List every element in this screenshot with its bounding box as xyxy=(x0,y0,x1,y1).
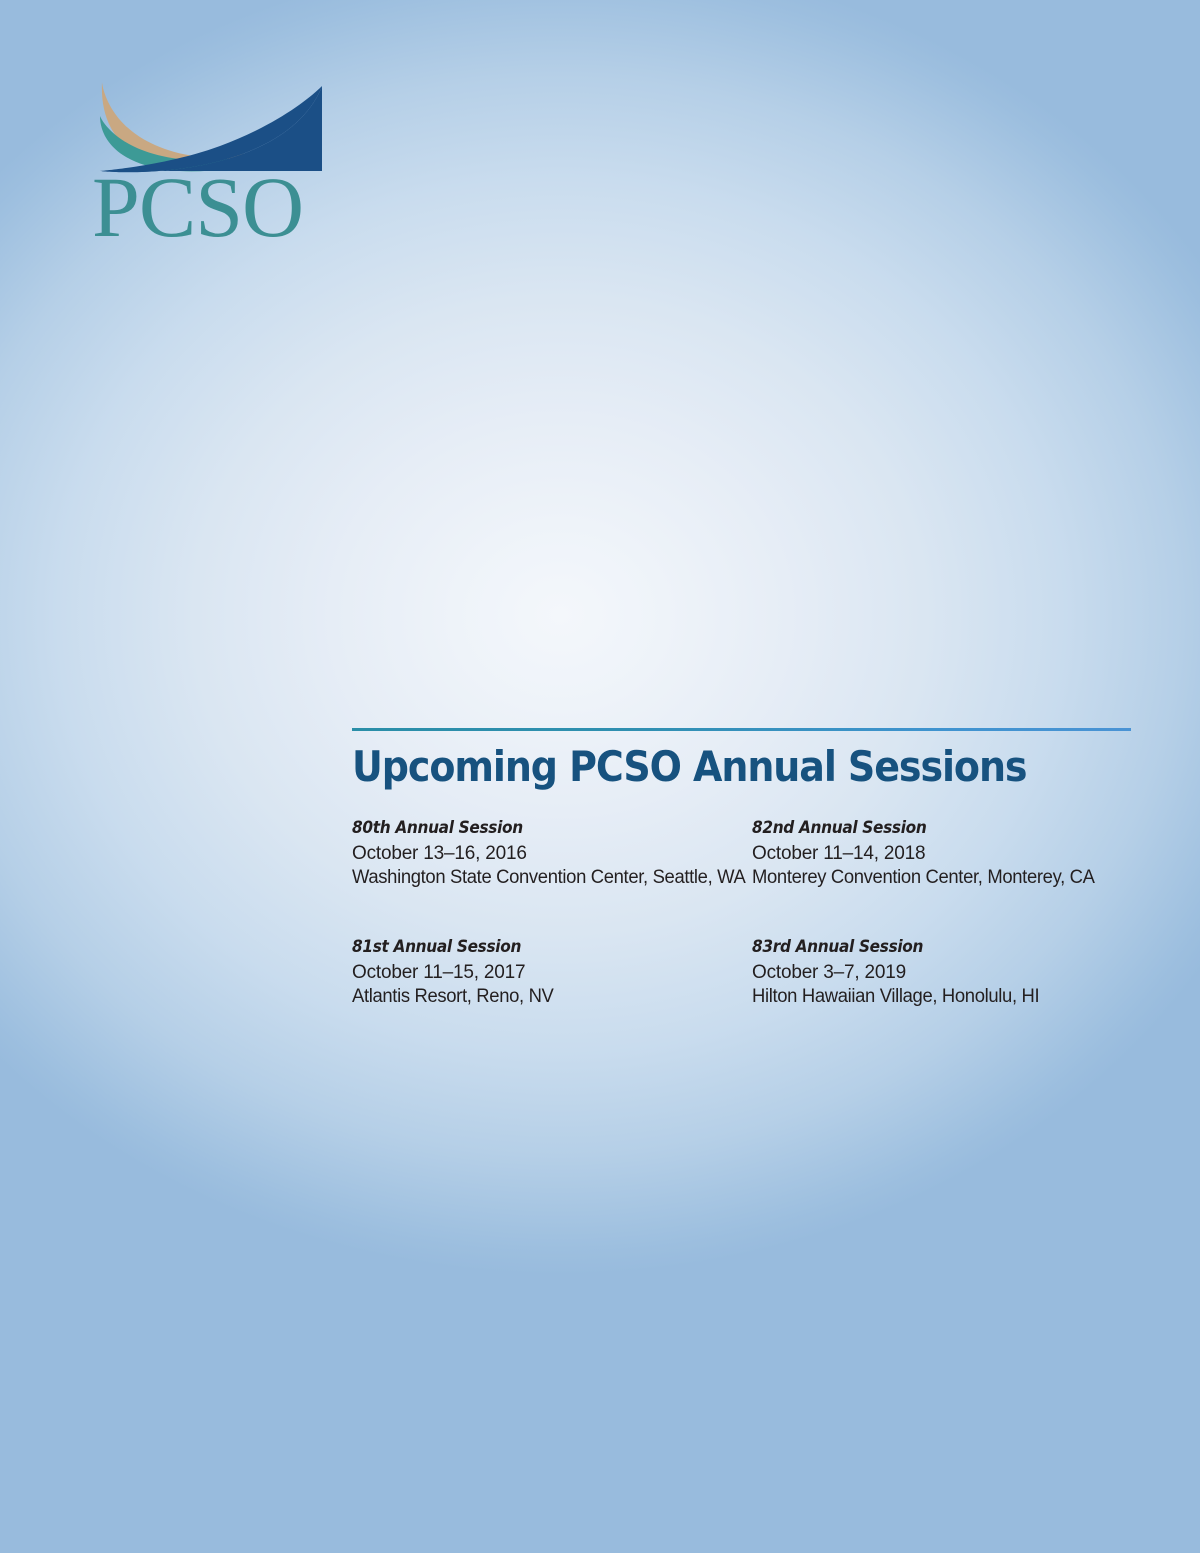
title-divider-rule xyxy=(352,728,1131,731)
pcso-wordmark: PCSO xyxy=(92,164,303,250)
session-name: 83rd Annual Session xyxy=(752,937,1124,957)
session-entry: 81st Annual Session October 11–15, 2017 … xyxy=(352,937,752,1009)
page-canvas: PCSO Upcoming PCSO Annual Sessions 80th … xyxy=(0,0,1200,1553)
session-entry: 80th Annual Session October 13–16, 2016 … xyxy=(352,818,752,890)
session-entry: 82nd Annual Session October 11–14, 2018 … xyxy=(752,818,1152,890)
sessions-content: Upcoming PCSO Annual Sessions 80th Annua… xyxy=(352,728,1132,1009)
page-title: Upcoming PCSO Annual Sessions xyxy=(352,744,1058,790)
session-venue: Washington State Convention Center, Seat… xyxy=(352,866,740,890)
session-name: 81st Annual Session xyxy=(352,937,724,957)
session-dates: October 13–16, 2016 xyxy=(352,842,752,866)
session-venue: Atlantis Resort, Reno, NV xyxy=(352,985,740,1009)
sessions-grid: 80th Annual Session October 13–16, 2016 … xyxy=(352,818,1132,1009)
session-dates: October 3–7, 2019 xyxy=(752,961,1152,985)
session-dates: October 11–14, 2018 xyxy=(752,842,1152,866)
session-entry: 83rd Annual Session October 3–7, 2019 Hi… xyxy=(752,937,1152,1009)
session-name: 80th Annual Session xyxy=(352,818,724,838)
session-name: 82nd Annual Session xyxy=(752,818,1124,838)
session-venue: Monterey Convention Center, Monterey, CA xyxy=(752,866,1140,890)
pcso-logo: PCSO xyxy=(96,78,332,246)
session-venue: Hilton Hawaiian Village, Honolulu, HI xyxy=(752,985,1140,1009)
session-dates: October 11–15, 2017 xyxy=(352,961,752,985)
